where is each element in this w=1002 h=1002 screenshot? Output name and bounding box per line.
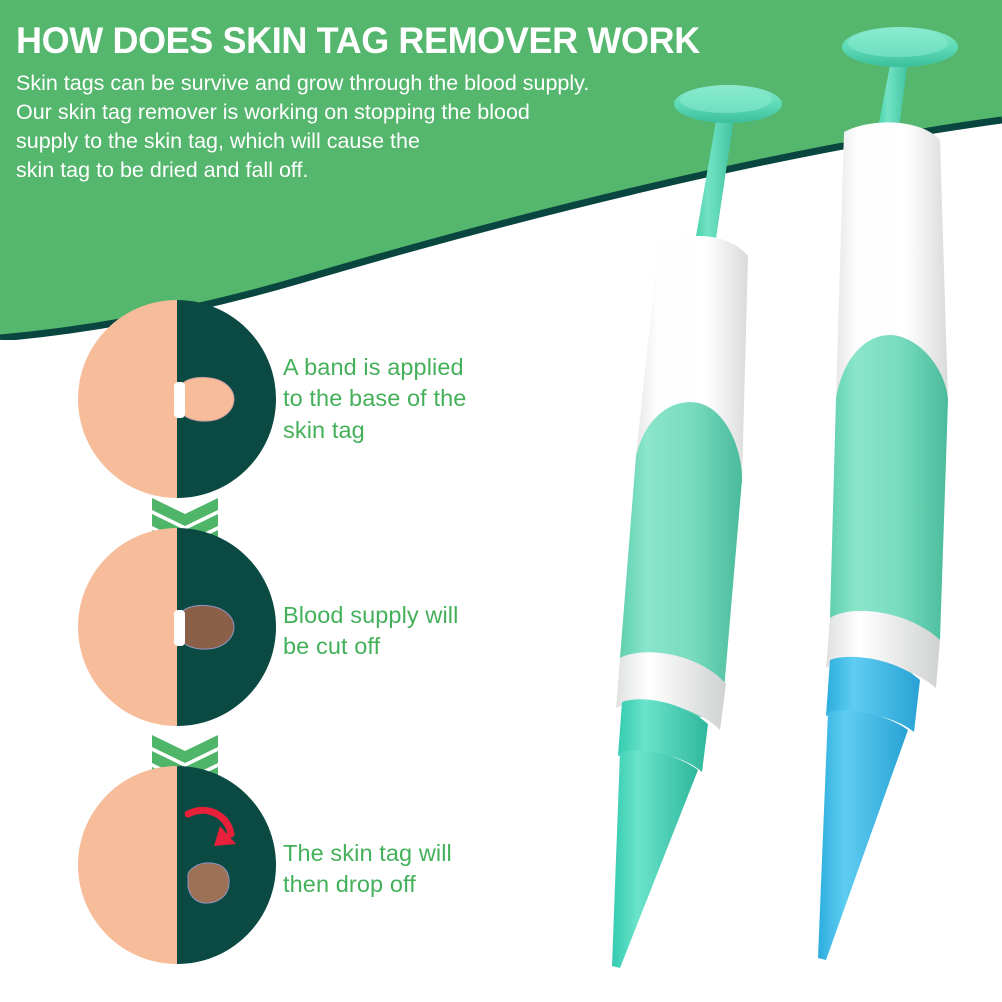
step-2: Blood supply will be cut off: [0, 528, 560, 728]
removal-band-1: [174, 382, 185, 418]
step-2-illustration: [78, 528, 276, 726]
step-3-caption-line-1: The skin tag will: [283, 838, 452, 869]
step-3-illustration: [78, 766, 276, 964]
grip-right: [830, 335, 948, 678]
page-title: HOW DOES SKIN TAG REMOVER WORK: [16, 22, 774, 60]
skin-half-2: [78, 528, 177, 726]
step-1-caption-line-1: A band is applied: [283, 352, 466, 383]
step-1-caption: A band is applied to the base of the ski…: [283, 352, 466, 446]
removal-band-2: [174, 610, 185, 646]
skin-tag-1: [182, 377, 234, 421]
device-right: [818, 27, 958, 960]
subtitle-line-4: skin tag to be dried and fall off.: [16, 156, 806, 185]
subtitle-line-1: Skin tags can be survive and grow throug…: [16, 69, 806, 98]
banner-text-block: HOW DOES SKIN TAG REMOVER WORK Skin tags…: [16, 22, 806, 185]
plunger-disc-highlight-right: [848, 29, 948, 57]
nozzle-right: [826, 657, 920, 732]
nozzle-left: [618, 699, 708, 772]
step-2-caption-line-2: be cut off: [283, 631, 458, 662]
step-3-caption: The skin tag will then drop off: [283, 838, 452, 901]
crosssection-half-3: [177, 766, 276, 964]
device-left: [612, 85, 782, 968]
plunger-rod-right: [877, 60, 908, 135]
step-3-caption-line-2: then drop off: [283, 869, 452, 900]
detached-skin-tag-3: [188, 863, 229, 903]
step-1-illustration: [78, 300, 276, 498]
collar-left: [616, 652, 726, 730]
step-1-caption-line-2: to the base of the: [283, 383, 466, 414]
step-2-caption: Blood supply will be cut off: [283, 600, 458, 663]
barrel-left: [636, 236, 748, 523]
barrel-right: [836, 122, 948, 448]
step-1-caption-line-3: skin tag: [283, 415, 466, 446]
needle-tip-right: [818, 710, 908, 960]
skin-half-1: [78, 300, 177, 498]
subtitle-line-2: Our skin tag remover is working on stopp…: [16, 98, 806, 127]
plunger-disc-right: [842, 27, 958, 67]
banner-subtitle: Skin tags can be survive and grow throug…: [16, 69, 806, 186]
needle-tip-left: [612, 750, 698, 968]
collar-right: [826, 611, 940, 688]
infographic-page: HOW DOES SKIN TAG REMOVER WORK Skin tags…: [0, 0, 1002, 1002]
skin-half-3: [78, 766, 177, 964]
subtitle-line-3: supply to the skin tag, which will cause…: [16, 127, 806, 156]
step-1: A band is applied to the base of the ski…: [0, 300, 560, 500]
step-2-caption-line-1: Blood supply will: [283, 600, 458, 631]
grip-left: [620, 402, 742, 721]
step-3: The skin tag will then drop off: [0, 766, 560, 966]
step-sequence: A band is applied to the base of the ski…: [0, 300, 560, 980]
skin-tag-2: [182, 605, 234, 649]
